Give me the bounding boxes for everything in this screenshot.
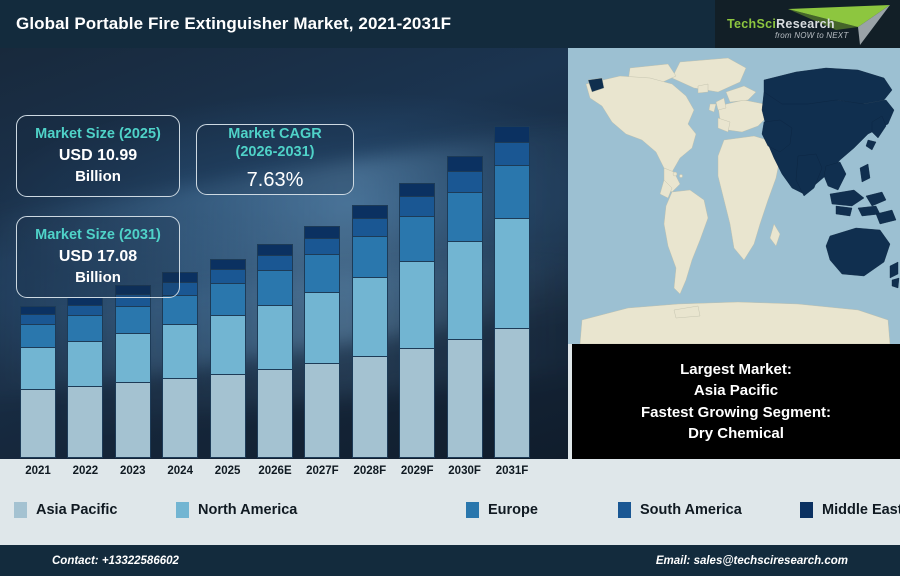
world-map-svg xyxy=(568,48,900,344)
bar-segment-middle-east-africa xyxy=(399,183,435,197)
bar-segment-europe xyxy=(210,283,246,315)
bar-segment-middle-east-africa xyxy=(494,126,530,142)
infographic-root: Global Portable Fire Extinguisher Market… xyxy=(0,0,900,576)
chart-panel: Market Size (2025) USD 10.99 Billion Mar… xyxy=(0,48,568,459)
bar-2024 xyxy=(162,272,198,458)
market-highlights-box: Largest Market: Asia Pacific Fastest Gro… xyxy=(572,344,900,459)
stat-label: Market Size (2031) xyxy=(35,227,161,245)
legend-swatch-icon xyxy=(800,502,813,518)
bar-segment-middle-east-africa xyxy=(210,259,246,269)
bar-2029F xyxy=(399,183,435,458)
bar-segment-europe xyxy=(399,216,435,261)
logo-tagline: from NOW to NEXT xyxy=(775,31,848,40)
bar-segment-north-america xyxy=(162,324,198,378)
bar-segment-north-america xyxy=(352,277,388,356)
legend-swatch-icon xyxy=(618,502,631,518)
stat-unit: Billion xyxy=(75,268,121,288)
stat-card-market-size-2031: Market Size (2031) USD 17.08 Billion xyxy=(16,216,180,298)
footer-email: Email: sales@techsciresearch.com xyxy=(656,555,848,567)
bar-segment-north-america xyxy=(399,261,435,348)
bar-segment-asia-pacific xyxy=(115,382,151,458)
bar-segment-asia-pacific xyxy=(162,378,198,458)
bar-segment-middle-east-africa xyxy=(20,306,56,314)
bar-segment-north-america xyxy=(494,218,530,328)
x-axis-tick-2024: 2024 xyxy=(158,465,202,477)
stat-label: Market Size (2025) xyxy=(35,126,161,144)
legend-swatch-icon xyxy=(176,502,189,518)
fastest-segment-label: Fastest Growing Segment: xyxy=(641,402,831,423)
bar-segment-europe xyxy=(67,315,103,340)
x-axis-tick-2027F: 2027F xyxy=(300,465,344,477)
legend-label: North America xyxy=(198,502,297,518)
bar-segment-middle-east-africa xyxy=(304,226,340,238)
legend-label: Middle East & Africa xyxy=(822,502,900,518)
bar-segment-south-america xyxy=(20,314,56,324)
bar-segment-north-america xyxy=(67,341,103,387)
x-axis-tick-2028F: 2028F xyxy=(348,465,392,477)
legend-item-asia-pacific[interactable]: Asia Pacific xyxy=(14,502,117,518)
logo-wordmark: TechSciResearch xyxy=(727,17,835,31)
legend-label: Europe xyxy=(488,502,538,518)
bar-segment-north-america xyxy=(304,292,340,363)
bar-segment-asia-pacific xyxy=(20,389,56,457)
stat-value: 7.63% xyxy=(247,167,304,193)
largest-market-label: Largest Market: xyxy=(680,359,792,380)
x-axis-tick-2021: 2021 xyxy=(16,465,60,477)
legend-swatch-icon xyxy=(14,502,27,518)
stat-label-line2: (2026-2031) xyxy=(236,144,315,162)
bar-segment-middle-east-africa xyxy=(352,205,388,218)
bar-2021 xyxy=(20,306,56,458)
bar-segment-south-america xyxy=(67,305,103,316)
bar-segment-asia-pacific xyxy=(399,348,435,458)
logo-techsci-text: TechSci xyxy=(727,17,776,31)
x-axis-tick-2023: 2023 xyxy=(111,465,155,477)
x-axis-tick-2031F: 2031F xyxy=(490,465,534,477)
bar-segment-europe xyxy=(352,236,388,277)
bar-segment-asia-pacific xyxy=(257,369,293,458)
header-bar: Global Portable Fire Extinguisher Market… xyxy=(0,0,900,48)
stat-unit: Billion xyxy=(75,167,121,187)
legend-label: Asia Pacific xyxy=(36,502,117,518)
legend-label: South America xyxy=(640,502,742,518)
x-axis-tick-2030F: 2030F xyxy=(443,465,487,477)
stat-label-line1: Market CAGR xyxy=(228,126,321,144)
stat-value: USD 17.08 xyxy=(59,247,137,268)
legend-item-south-america[interactable]: South America xyxy=(618,502,742,518)
bar-segment-north-america xyxy=(447,241,483,339)
bar-segment-south-america xyxy=(352,218,388,236)
bar-2025 xyxy=(210,259,246,458)
bar-segment-asia-pacific xyxy=(210,374,246,458)
bar-segment-europe xyxy=(304,254,340,292)
bar-2026E xyxy=(257,244,293,458)
fastest-segment-value: Dry Chemical xyxy=(688,423,784,444)
x-axis-tick-2029F: 2029F xyxy=(395,465,439,477)
x-axis: 202120222023202420252026E2027F2028F2029F… xyxy=(0,459,568,488)
bar-segment-europe xyxy=(162,295,198,325)
x-axis-tick-2022: 2022 xyxy=(63,465,107,477)
legend-item-middle-east-africa[interactable]: Middle East & Africa xyxy=(800,502,900,518)
bar-2022 xyxy=(67,297,103,458)
legend-swatch-icon xyxy=(466,502,479,518)
bar-segment-asia-pacific xyxy=(494,328,530,458)
world-map xyxy=(568,48,900,344)
bar-2027F xyxy=(304,226,340,458)
bar-segment-europe xyxy=(20,324,56,347)
legend-item-europe[interactable]: Europe xyxy=(466,502,538,518)
bar-segment-europe xyxy=(447,192,483,241)
bar-segment-asia-pacific xyxy=(304,363,340,458)
x-axis-tick-2025: 2025 xyxy=(206,465,250,477)
bar-segment-middle-east-africa xyxy=(257,244,293,255)
bar-segment-south-america xyxy=(447,171,483,192)
bar-segment-europe xyxy=(257,270,293,305)
bar-2023 xyxy=(115,285,151,458)
page-title: Global Portable Fire Extinguisher Market… xyxy=(16,14,451,34)
bar-segment-south-america xyxy=(494,142,530,165)
logo-research-text: Research xyxy=(776,17,835,31)
legend-item-north-america[interactable]: North America xyxy=(176,502,297,518)
stat-card-market-size-2025: Market Size (2025) USD 10.99 Billion xyxy=(16,115,180,197)
bar-segment-asia-pacific xyxy=(447,339,483,458)
bar-2028F xyxy=(352,205,388,458)
largest-market-value: Asia Pacific xyxy=(694,380,778,401)
footer-bar: Contact: +13322586602 Email: sales@techs… xyxy=(0,545,900,576)
footer-contact: Contact: +13322586602 xyxy=(52,555,179,567)
bar-segment-south-america xyxy=(304,238,340,254)
bar-segment-asia-pacific xyxy=(67,386,103,458)
x-axis-tick-2026E: 2026E xyxy=(253,465,297,477)
bar-segment-south-america xyxy=(257,255,293,270)
bar-segment-south-america xyxy=(399,196,435,215)
bar-2031F xyxy=(494,126,530,458)
bar-segment-north-america xyxy=(210,315,246,374)
bar-segment-middle-east-africa xyxy=(447,156,483,171)
stat-value: USD 10.99 xyxy=(59,146,137,167)
chart-legend: Asia PacificNorth AmericaEuropeSouth Ame… xyxy=(0,488,900,533)
bar-segment-asia-pacific xyxy=(352,356,388,458)
stat-card-market-cagr: Market CAGR (2026-2031) 7.63% xyxy=(196,124,354,195)
bar-segment-south-america xyxy=(210,269,246,283)
bar-segment-north-america xyxy=(257,305,293,369)
bar-segment-europe xyxy=(115,306,151,333)
bar-segment-europe xyxy=(494,165,530,218)
bar-segment-north-america xyxy=(20,347,56,389)
techsci-logo: TechSciResearch from NOW to NEXT xyxy=(715,0,900,48)
bar-2030F xyxy=(447,156,483,458)
bar-segment-north-america xyxy=(115,333,151,383)
